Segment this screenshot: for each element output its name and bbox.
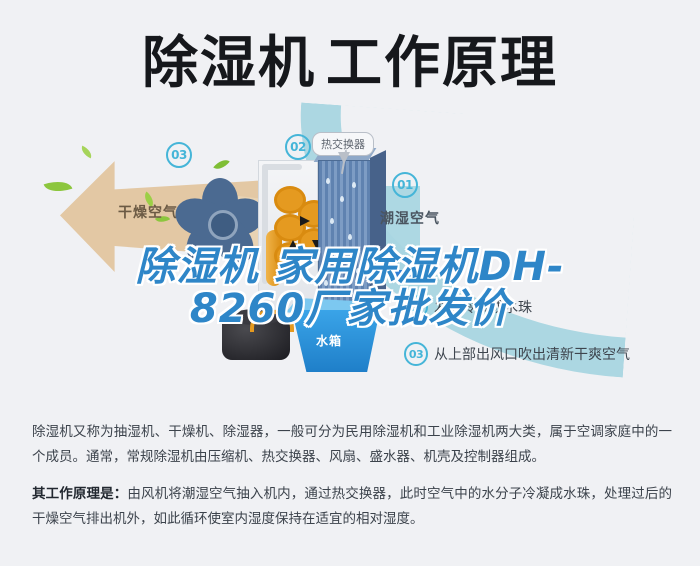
- badge-01-humid-air: 01: [392, 172, 418, 198]
- paragraph-2: 其工作原理是：由风机将潮湿空气抽入机内，通过热交换器，此时空气中的水分子冷凝成水…: [32, 482, 672, 532]
- note-03-text: 从上部出风口吹出清新干爽空气: [434, 344, 630, 364]
- badge-03-dry-air: 03: [166, 142, 192, 168]
- paragraph-1: 除湿机又称为抽湿机、干燥机、除湿器，一般可分为民用除湿机和工业除湿机两大类，属于…: [32, 420, 672, 470]
- heat-exchanger-side: [370, 150, 386, 306]
- humid-air-label: 潮湿空气: [380, 208, 440, 228]
- note-03: 03 从上部出风口吹出清新干爽空气: [404, 342, 630, 366]
- dry-air-label: 干燥空气: [118, 202, 178, 222]
- flow-arrow-right-icon: [300, 216, 310, 226]
- paragraph-2-lead: 其工作原理是：: [32, 486, 127, 502]
- callout-tail-icon: [338, 152, 350, 164]
- water-tank-label: 水箱: [316, 332, 342, 349]
- note-02-text: 发器冷凝成水珠: [434, 297, 532, 317]
- badge-03-note: 03: [404, 342, 428, 366]
- leaf-icon: [213, 156, 230, 173]
- page-title-part2: 工作原理: [326, 31, 558, 96]
- flow-arrow-up-icon: [288, 240, 298, 250]
- compressor-pipe: [250, 310, 294, 332]
- refrigerant-pipe: [262, 164, 302, 170]
- leaf-icon: [79, 146, 94, 159]
- body-copy: 除湿机又称为抽湿机、干燥机、除湿器，一般可分为民用除湿机和工业除湿机两大类，属于…: [32, 420, 672, 544]
- intake-arrow-icon: [372, 268, 418, 280]
- badge-02-heat-exchanger: 02: [285, 134, 311, 160]
- leaf-icon: [44, 176, 73, 196]
- page-title: 除湿机工作原理: [0, 28, 700, 100]
- badge-02-note: 02: [404, 295, 428, 319]
- note-02: 02 发器冷凝成水珠: [404, 295, 532, 319]
- fan-icon: [172, 172, 268, 268]
- dehumidifier-diagram: 03 干燥空气 热交换器: [0, 120, 700, 400]
- coil-group: [272, 182, 324, 288]
- page-root: 除湿机工作原理 03 干燥空气: [0, 0, 700, 566]
- paragraph-2-rest: 由风机将潮湿空气抽入机内，通过热交换器，此时空气中的水分子冷凝成水珠，处理过后的…: [32, 486, 672, 527]
- page-title-part1: 除湿机: [142, 31, 316, 96]
